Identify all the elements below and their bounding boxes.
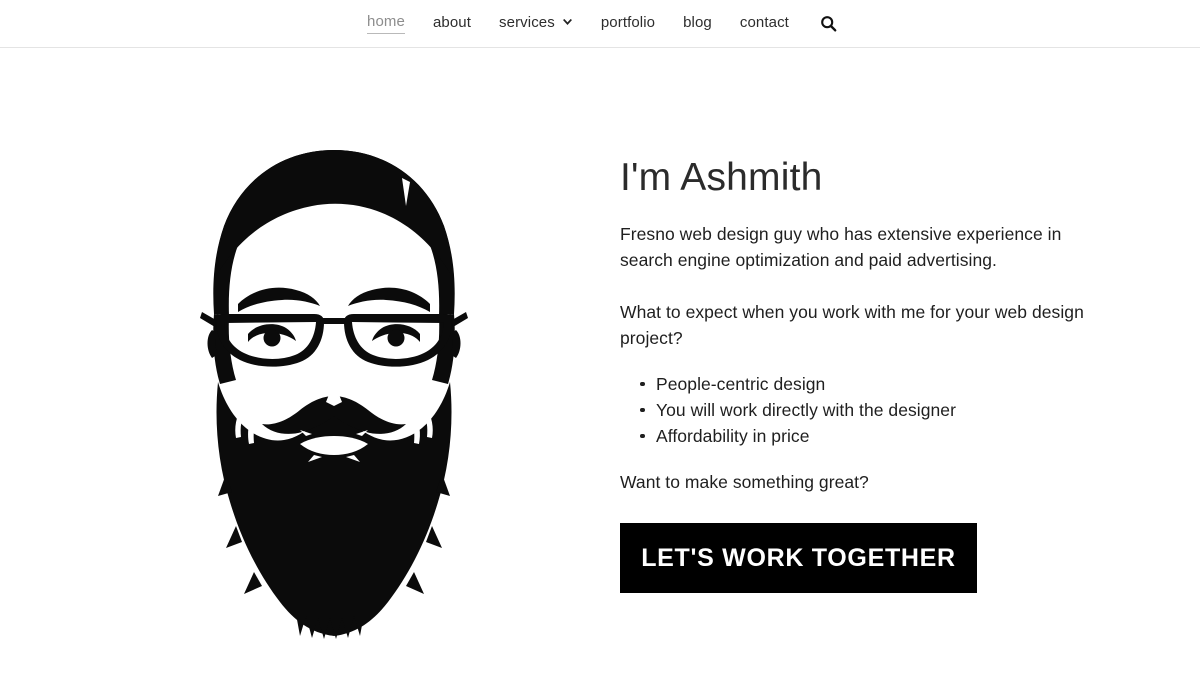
hero-text-column: I'm Ashmith Fresno web design guy who ha…	[620, 156, 1110, 593]
nav-item-contact[interactable]: contact	[740, 15, 789, 33]
portrait-illustration	[196, 144, 472, 639]
list-item: People-centric design	[620, 371, 1110, 397]
hero-intro-paragraph: Fresno web design guy who has extensive …	[620, 221, 1110, 273]
spacer	[620, 351, 1110, 371]
chevron-down-icon	[562, 17, 573, 28]
hero-section: I'm Ashmith Fresno web design guy who ha…	[0, 48, 1200, 677]
page-title: I'm Ashmith	[620, 156, 1110, 200]
lets-work-together-button[interactable]: LET'S WORK TOGETHER	[620, 523, 977, 593]
nav-item-home[interactable]: home	[367, 14, 405, 34]
search-icon[interactable]	[819, 14, 839, 34]
nav-item-services-label: services	[499, 15, 555, 30]
spacer	[620, 273, 1110, 299]
hero-benefits-list: People-centric design You will work dire…	[620, 371, 1110, 449]
main-navigation: home about services portfolio blog conta…	[0, 0, 1200, 47]
site-header: home about services portfolio blog conta…	[0, 0, 1200, 48]
nav-item-blog[interactable]: blog	[683, 15, 712, 33]
nav-item-about[interactable]: about	[433, 15, 471, 33]
nav-item-services[interactable]: services	[499, 15, 573, 33]
list-item: You will work directly with the designer	[620, 397, 1110, 423]
list-item: Affordability in price	[620, 423, 1110, 449]
nav-item-portfolio[interactable]: portfolio	[601, 15, 655, 33]
hero-question-paragraph: What to expect when you work with me for…	[620, 299, 1110, 351]
spacer	[620, 449, 1110, 469]
hero-closing-paragraph: Want to make something great?	[620, 469, 1110, 495]
